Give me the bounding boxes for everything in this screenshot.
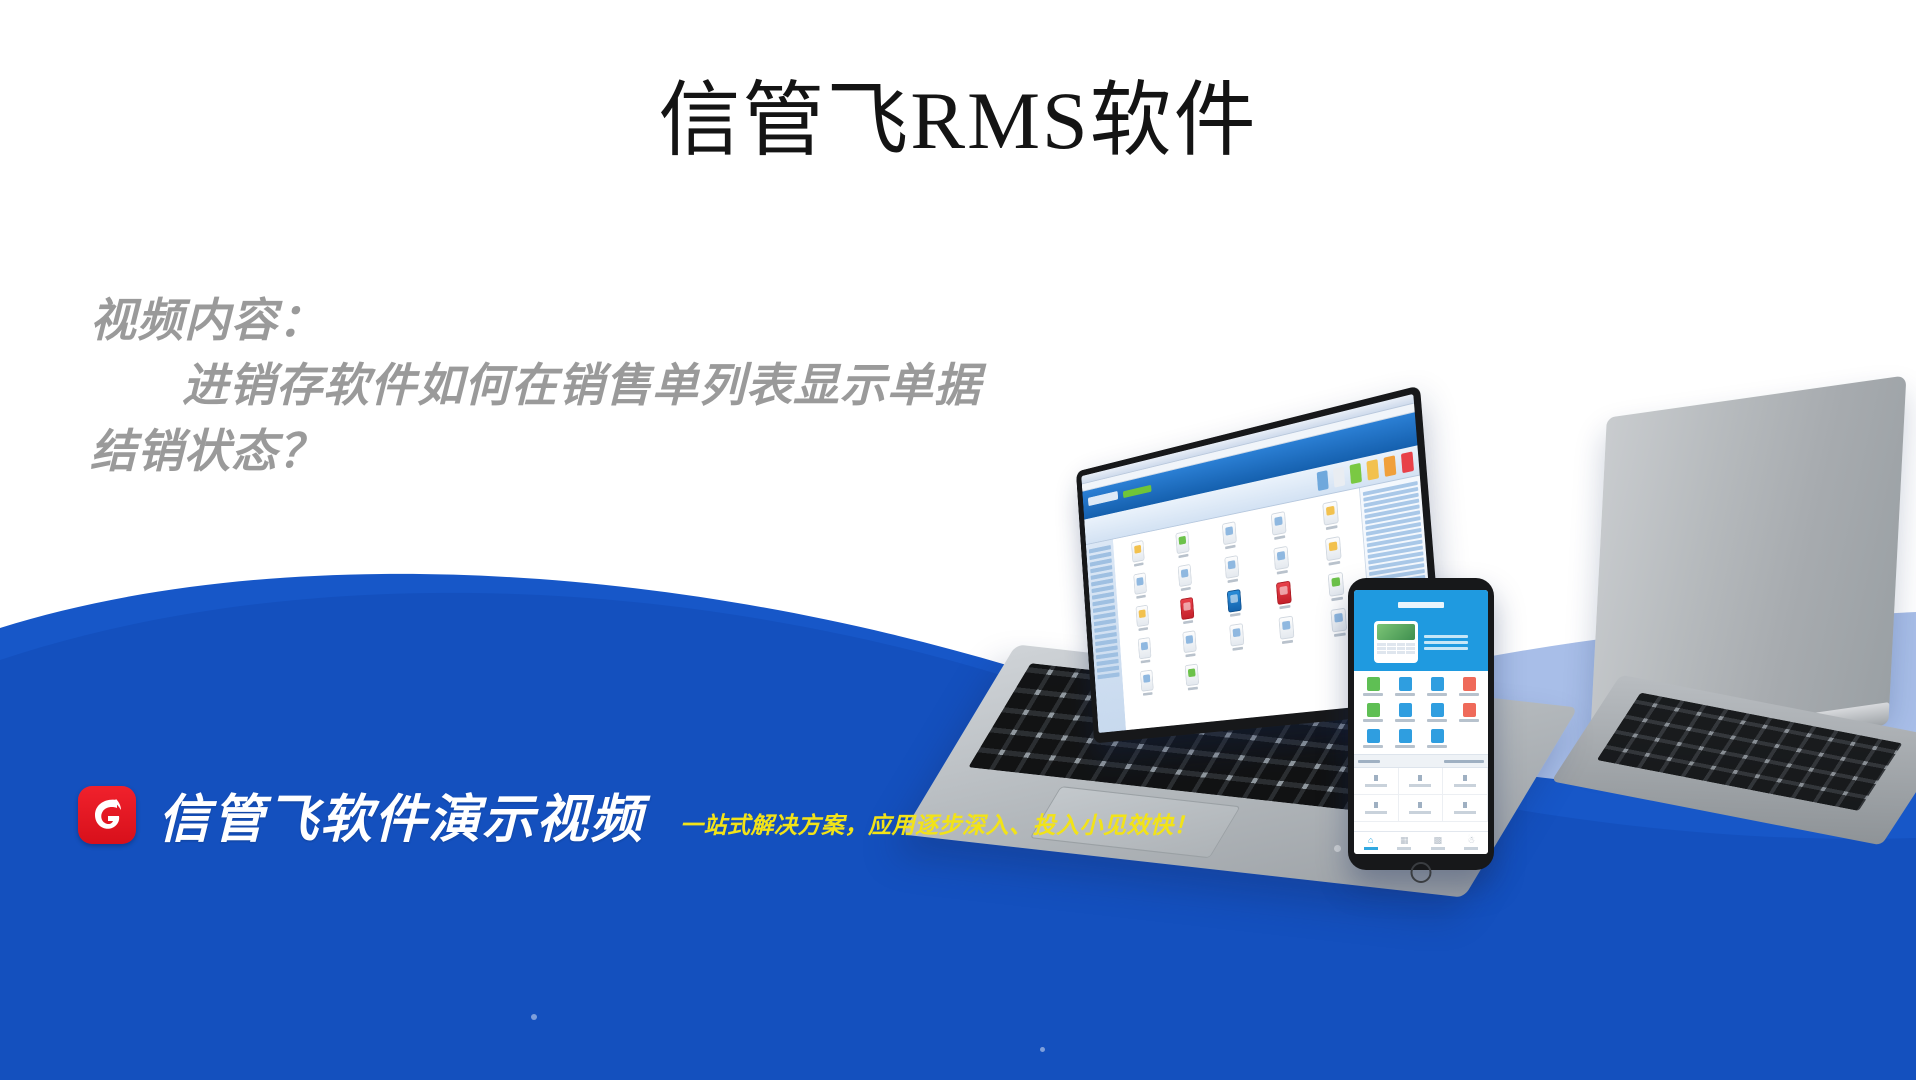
erp-module-item [1170, 662, 1214, 693]
person-icon: ☃ [1467, 836, 1475, 845]
erp-module-item [1309, 533, 1360, 569]
banner-key [1397, 643, 1406, 646]
erp-module-label [1138, 627, 1148, 631]
erp-tool-icon [1401, 451, 1414, 473]
erp-module-icon [1274, 546, 1290, 570]
erp-tool-icon [1317, 470, 1329, 491]
erp-module-label [1136, 595, 1146, 599]
mobile-module-label [1363, 719, 1383, 722]
mobile-module-label [1459, 693, 1479, 696]
home-icon: ⌂ [1368, 836, 1373, 845]
mobile-module-icon [1431, 729, 1444, 743]
banner-caption [1424, 632, 1468, 653]
chart-icon: ▩ [1433, 836, 1442, 845]
mobile-module-icon [1367, 703, 1380, 717]
erp-module-item [1263, 613, 1311, 646]
video-content-label: 视频内容： [90, 288, 1150, 353]
mobile-module-label [1363, 745, 1383, 748]
erp-module-item [1126, 668, 1168, 698]
banner-key [1406, 647, 1415, 650]
erp-tool-icon [1366, 459, 1379, 480]
stat-value [1463, 802, 1467, 808]
stat-label [1365, 784, 1387, 787]
mobile-app-banner [1354, 613, 1488, 671]
stat-label [1409, 784, 1431, 787]
erp-module-label [1225, 545, 1236, 550]
erp-module-icon [1276, 581, 1292, 605]
mobile-stats-grid [1354, 768, 1488, 822]
banner-key [1397, 651, 1406, 654]
mobile-module-label [1395, 693, 1415, 696]
mobile-module-item [1358, 677, 1388, 696]
flying-bird-logo-icon [78, 786, 136, 844]
tab-label [1431, 847, 1445, 850]
mobile-module-grid [1354, 671, 1488, 754]
erp-module-icon [1323, 500, 1339, 525]
phone-home-button[interactable] [1411, 862, 1432, 883]
mobile-bottom-nav: ⌂ ▦ ▩ ☃ [1354, 831, 1488, 854]
erp-module-icon [1325, 536, 1342, 561]
erp-module-icon [1135, 605, 1149, 627]
mobile-app-title [1398, 602, 1444, 608]
erp-module-label [1185, 653, 1195, 657]
phone-screen: ⌂ ▦ ▩ ☃ [1354, 590, 1488, 854]
mobile-stat-cell [1399, 768, 1444, 795]
banner-key [1397, 647, 1406, 650]
erp-module-item [1214, 621, 1260, 653]
mobile-module-icon [1399, 677, 1412, 691]
mobile-module-label [1427, 693, 1447, 696]
mobile-module-label [1427, 745, 1447, 748]
erp-module-label [1326, 525, 1338, 530]
erp-module-icon [1331, 608, 1348, 633]
mobile-tab-modules: ▦ [1388, 832, 1422, 854]
banner-key [1377, 651, 1386, 654]
mobile-module-item [1358, 703, 1388, 722]
mobile-stat-cell [1399, 795, 1444, 822]
erp-module-label [1143, 692, 1153, 696]
mobile-stat-cell [1354, 795, 1399, 822]
erp-module-item [1166, 595, 1210, 627]
erp-module-icon [1224, 555, 1239, 579]
erp-module-label [1178, 554, 1188, 558]
banner-key [1387, 643, 1396, 646]
mobile-module-icon [1399, 729, 1412, 743]
mobile-module-item [1390, 677, 1420, 696]
mobile-module-icon [1431, 703, 1444, 717]
presentation-slide: 信管飞RMS软件 视频内容： 进销存软件如何在销售单列表显示单据 结销状态？ [0, 0, 1916, 1080]
erp-module-icon [1279, 616, 1295, 640]
erp-module-icon [1131, 540, 1144, 563]
erp-sidebar-item [1097, 672, 1119, 679]
erp-module-icon [1133, 572, 1146, 595]
erp-module-icon [1182, 630, 1196, 653]
mobile-module-label [1427, 719, 1447, 722]
section-title [1358, 760, 1380, 763]
stat-value [1374, 802, 1378, 808]
banner-caption-line [1424, 641, 1468, 644]
erp-module-item [1207, 518, 1253, 552]
mobile-module-icon [1399, 703, 1412, 717]
erp-module-icon [1178, 564, 1192, 587]
erp-module-item [1168, 628, 1212, 659]
footer-brand-row: 信管飞软件演示视频 一站式解决方案，应用逐步深入、投入小见效快！ [78, 777, 1197, 852]
grid-icon: ▦ [1400, 836, 1409, 845]
mobile-module-icon [1463, 677, 1476, 691]
erp-module-label [1183, 620, 1193, 624]
erp-module-item [1209, 552, 1255, 586]
banner-device-illustration [1374, 621, 1418, 663]
stat-value [1418, 802, 1422, 808]
mobile-module-label [1395, 745, 1415, 748]
mobile-module-item [1390, 729, 1420, 748]
mobile-stat-cell [1443, 768, 1488, 795]
stat-label [1454, 784, 1476, 787]
erp-module-item [1124, 635, 1166, 665]
erp-module-label [1181, 587, 1191, 591]
erp-module-label [1188, 687, 1198, 691]
mobile-module-icon [1463, 703, 1476, 717]
brand-title: 信管飞软件演示视频 [158, 777, 644, 852]
mobile-module-item [1390, 703, 1420, 722]
erp-module-icon [1138, 637, 1152, 659]
erp-module-icon [1222, 521, 1237, 545]
erp-module-item [1258, 543, 1306, 578]
mobile-tab-profile: ☃ [1455, 832, 1489, 854]
banner-key [1406, 643, 1415, 646]
erp-module-icon [1229, 623, 1244, 646]
decorative-dot [1040, 1047, 1045, 1052]
erp-module-item [1212, 586, 1258, 619]
erp-tool-icon [1350, 463, 1362, 484]
erp-module-item [1161, 528, 1204, 561]
erp-tool-icon [1333, 467, 1345, 488]
erp-brand-tagline [1123, 485, 1152, 498]
erp-module-item [1119, 570, 1160, 602]
banner-key [1406, 651, 1415, 654]
erp-module-label [1228, 579, 1239, 583]
mobile-section-header [1354, 754, 1488, 768]
erp-module-icon [1175, 531, 1189, 554]
slide-title: 信管飞RMS软件 [0, 78, 1916, 164]
banner-image [1377, 624, 1415, 640]
stat-label [1365, 811, 1387, 814]
banner-keypad [1377, 643, 1415, 654]
stat-label [1409, 811, 1431, 814]
erp-module-label [1232, 647, 1243, 651]
erp-module-item [1117, 537, 1158, 569]
mobile-module-label [1395, 719, 1415, 722]
mobile-tab-home: ⌂ [1354, 832, 1388, 854]
mobile-module-item [1358, 729, 1388, 748]
mobile-module-label [1363, 693, 1383, 696]
stat-value [1418, 775, 1422, 781]
tab-label [1464, 847, 1478, 850]
mobile-stat-cell [1443, 795, 1488, 822]
banner-caption-line [1424, 635, 1468, 638]
mobile-module-icon [1367, 729, 1380, 743]
erp-module-item [1163, 561, 1207, 594]
erp-module-label [1274, 535, 1285, 540]
banner-key [1377, 647, 1386, 650]
erp-module-label [1230, 613, 1241, 617]
erp-tool-icon [1384, 455, 1397, 477]
phone-status-bar [1354, 590, 1488, 597]
stat-value [1374, 775, 1378, 781]
erp-module-icon [1328, 572, 1345, 597]
decorative-dot [531, 1014, 537, 1020]
erp-module-icon [1180, 597, 1194, 620]
mobile-module-icon [1367, 677, 1380, 691]
mobile-module-item [1422, 729, 1452, 748]
erp-module-icon [1185, 664, 1199, 687]
erp-module-label [1140, 660, 1150, 664]
banner-key [1387, 651, 1396, 654]
stat-label [1454, 811, 1476, 814]
erp-module-label [1334, 632, 1346, 636]
banner-key [1387, 647, 1396, 650]
mobile-module-label [1459, 719, 1479, 722]
erp-module-label [1282, 640, 1293, 644]
tab-label [1397, 847, 1411, 850]
mobile-module-item [1422, 677, 1452, 696]
tab-label [1364, 847, 1378, 850]
mobile-module-item [1422, 703, 1452, 722]
erp-module-item [1306, 497, 1357, 534]
erp-module-label [1332, 597, 1344, 602]
mobile-module-item [1454, 677, 1484, 696]
mobile-app-header [1354, 597, 1488, 613]
erp-module-label [1134, 562, 1144, 566]
smartphone: ⌂ ▦ ▩ ☃ [1348, 578, 1494, 870]
erp-module-item [1122, 602, 1164, 633]
mobile-stat-cell [1354, 768, 1399, 795]
erp-module-item [1255, 508, 1303, 544]
erp-module-icon [1227, 589, 1242, 613]
mobile-module-item [1454, 703, 1484, 722]
erp-module-item [1260, 578, 1308, 612]
erp-module-label [1279, 605, 1290, 609]
erp-module-icon [1140, 670, 1154, 692]
erp-brand-mark [1088, 491, 1118, 506]
mobile-module-icon [1431, 677, 1444, 691]
mobile-tab-reports: ▩ [1421, 832, 1455, 854]
footer-bar: 信管飞软件演示视频 一站式解决方案，应用逐步深入、投入小见效快！ [0, 830, 1916, 1080]
erp-module-label [1277, 570, 1288, 575]
brand-slogan: 一站式解决方案，应用逐步深入、投入小见效快！ [680, 806, 1197, 840]
section-filters [1444, 760, 1484, 763]
banner-key [1377, 643, 1386, 646]
mobile-module-item [1454, 729, 1484, 748]
erp-module-icon [1271, 511, 1287, 536]
erp-module-label [1329, 561, 1341, 566]
decorative-dot [1334, 845, 1341, 852]
stat-value [1463, 775, 1467, 781]
banner-caption-line [1424, 647, 1468, 650]
